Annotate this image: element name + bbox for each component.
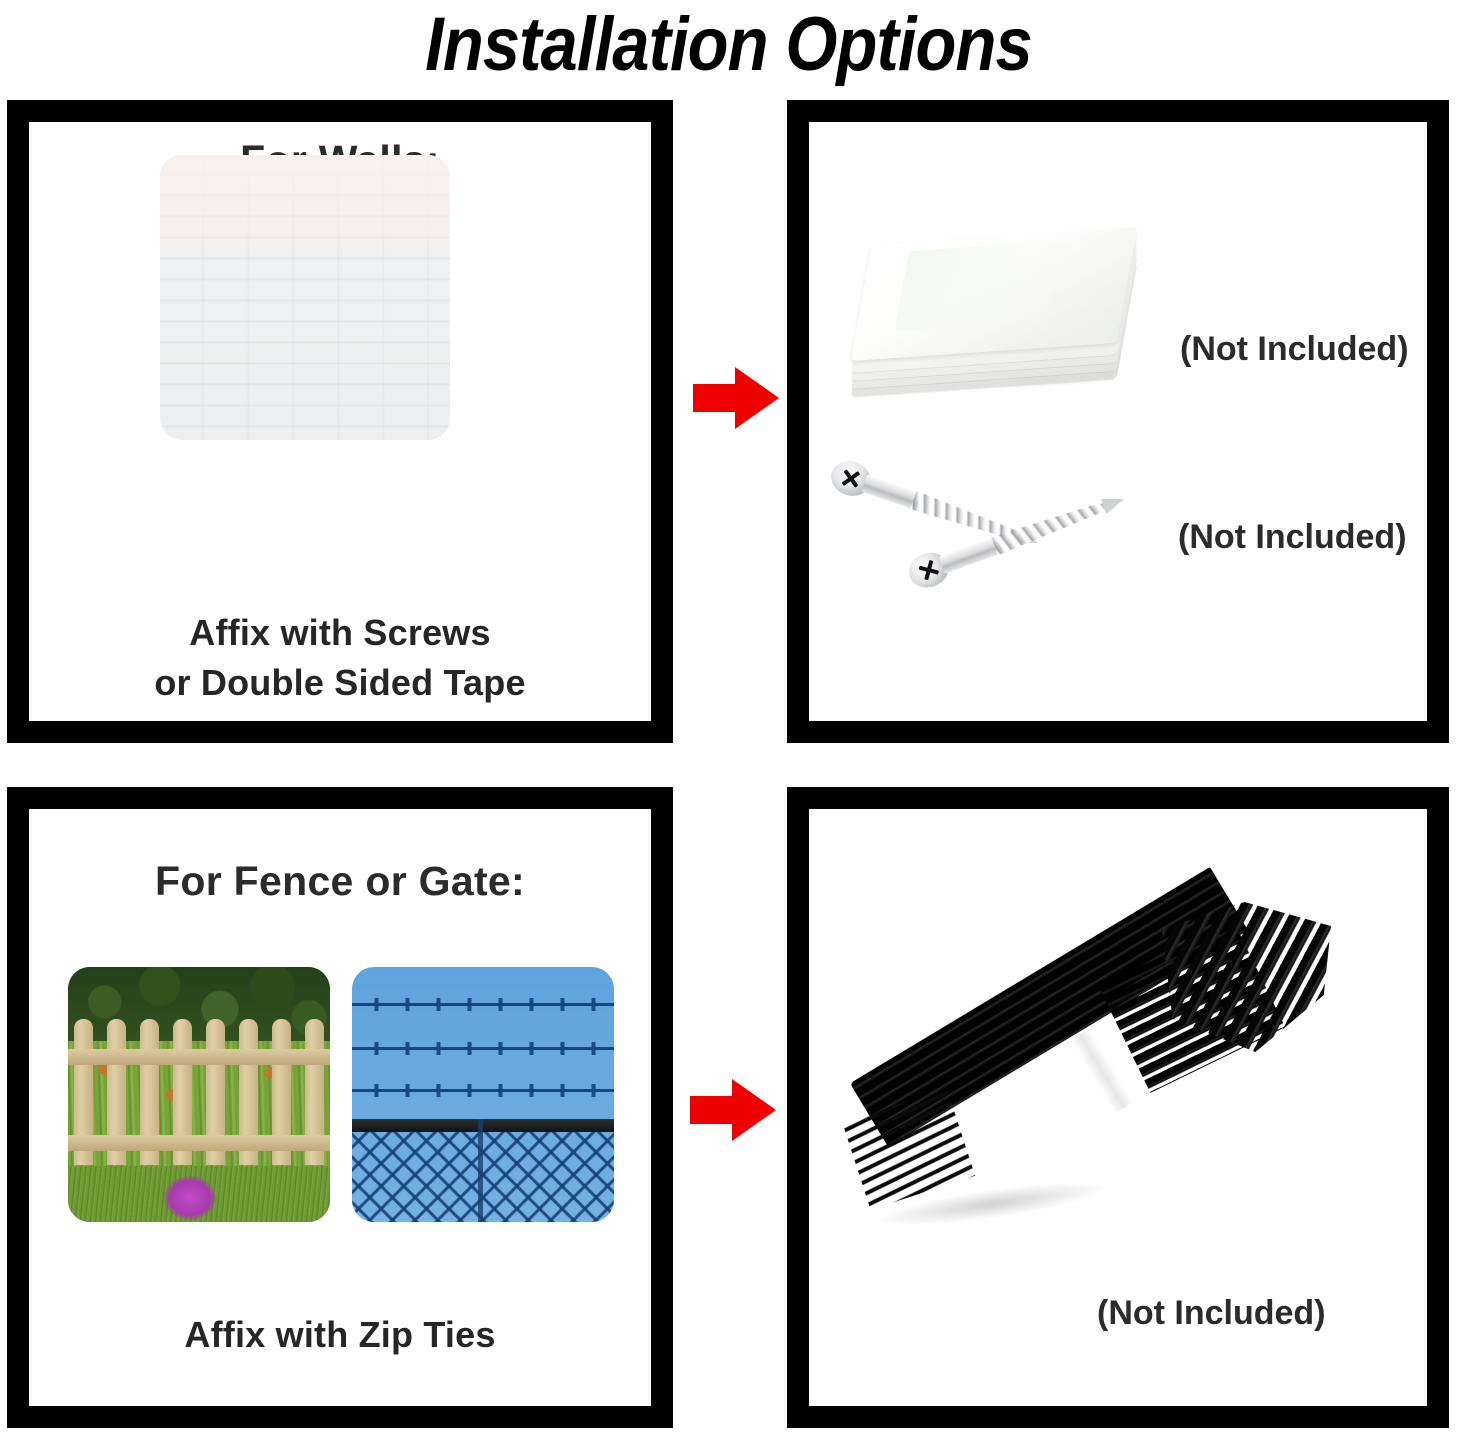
caption-walls-line2: or Double Sided Tape [7, 658, 673, 708]
wooden-picket-fence-photo [68, 967, 330, 1222]
note-screws-not-included: (Not Included) [1178, 518, 1407, 557]
arrow-head [732, 1079, 776, 1141]
white-brick-wall-photo [160, 155, 450, 440]
caption-fence: Affix with Zip Ties [7, 1310, 673, 1360]
caption-walls-line1: Affix with Screws [7, 608, 673, 658]
arrow-head [735, 367, 779, 429]
fence-rail [68, 1049, 330, 1065]
brick-highlight [160, 155, 450, 250]
red-arrow-right-fence [690, 1079, 776, 1141]
barbed-wire-barbs [352, 998, 614, 1011]
fence-rail [68, 1135, 330, 1151]
screw-tip [1101, 492, 1127, 515]
ziptie-tail-ends [842, 1088, 975, 1209]
panel-wall-hardware-content [809, 122, 1427, 721]
ziptie-binding-band [1070, 1028, 1133, 1113]
heading-for-fence-or-gate: For Fence or Gate: [7, 858, 673, 905]
red-arrow-right-walls [693, 367, 779, 429]
barbed-wire-barbs [352, 1084, 614, 1097]
chain-link-barbed-wire-fence-photo [352, 967, 614, 1222]
chain-link-mesh [352, 1132, 614, 1222]
note-tape-not-included: (Not Included) [1180, 330, 1409, 369]
double-sided-tape-stack [855, 228, 1145, 403]
arrow-shaft [690, 1096, 736, 1124]
fence-purple-patch [164, 1176, 216, 1220]
page-title: Installation Options [87, 2, 1369, 88]
panel-wall-hardware [787, 100, 1449, 743]
tape-sheen [895, 241, 1062, 331]
chain-link-post [478, 1119, 483, 1222]
arrow-shaft [693, 384, 739, 412]
barbed-wire-barbs [352, 1042, 614, 1055]
note-zipties-not-included: (Not Included) [1097, 1294, 1326, 1333]
black-zip-tie-bundle [855, 890, 1425, 1290]
chain-link-top-rail [352, 1119, 614, 1132]
